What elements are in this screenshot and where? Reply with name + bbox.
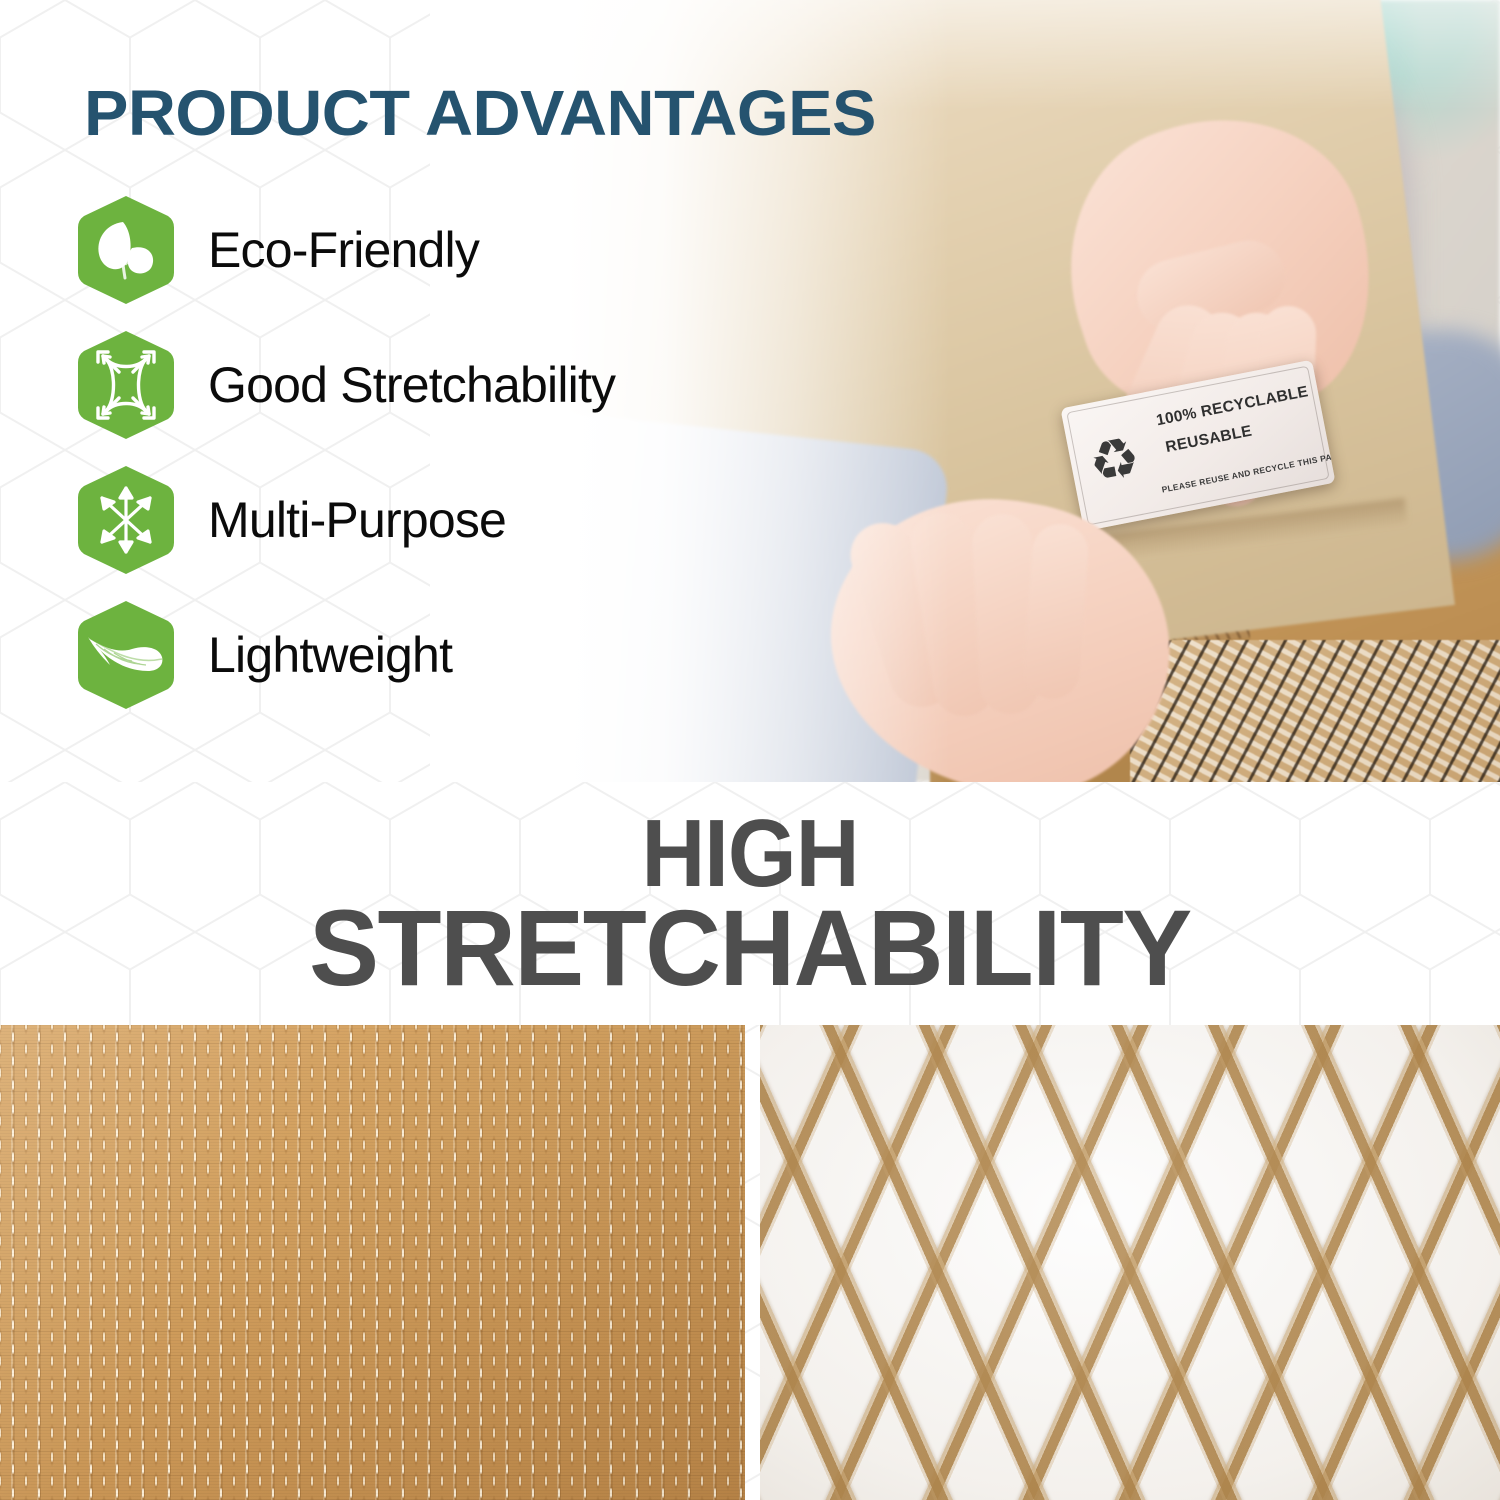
feature-label: Good Stretchability bbox=[208, 356, 615, 414]
feature-label: Eco-Friendly bbox=[208, 221, 479, 279]
feature-label: Lightweight bbox=[208, 626, 452, 684]
feature-item-good-stretchability: Good Stretchability bbox=[76, 317, 615, 452]
section-title-line1: HIGH bbox=[60, 810, 1440, 898]
feature-label: Multi-Purpose bbox=[208, 491, 506, 549]
page-title: PRODUCT ADVANTAGES bbox=[84, 76, 876, 150]
panel-stretched-honeycomb-mesh bbox=[760, 1025, 1500, 1500]
feature-item-eco-friendly: Eco-Friendly bbox=[76, 182, 615, 317]
kraft-shading-overlay bbox=[0, 1025, 745, 1500]
feature-item-multi-purpose: Multi-Purpose bbox=[76, 452, 615, 587]
leaf-icon bbox=[76, 194, 176, 306]
stretch-icon bbox=[76, 329, 176, 441]
product-advantages-poster: ♻ 100% RECYCLABLE REUSABLE PLEASE REUSE … bbox=[0, 0, 1500, 1500]
photo-rattan-mat bbox=[1130, 640, 1500, 782]
mid-section: HIGH STRETCHABILITY bbox=[0, 782, 1500, 1025]
mesh-vignette-overlay bbox=[760, 1025, 1500, 1500]
section-title: HIGH STRETCHABILITY bbox=[0, 810, 1500, 998]
texture-panels bbox=[0, 1025, 1500, 1500]
feature-item-lightweight: Lightweight bbox=[76, 587, 615, 722]
panel-unstretched-kraft-honeycomb bbox=[0, 1025, 745, 1500]
multi-arrow-icon bbox=[76, 464, 176, 576]
section-title-line2: STRETCHABILITY bbox=[23, 898, 1478, 997]
feature-list: Eco-Friendly bbox=[76, 182, 615, 722]
recycle-icon: ♻ bbox=[1085, 427, 1157, 496]
top-section: ♻ 100% RECYCLABLE REUSABLE PLEASE REUSE … bbox=[0, 0, 1500, 782]
feather-icon bbox=[76, 599, 176, 711]
